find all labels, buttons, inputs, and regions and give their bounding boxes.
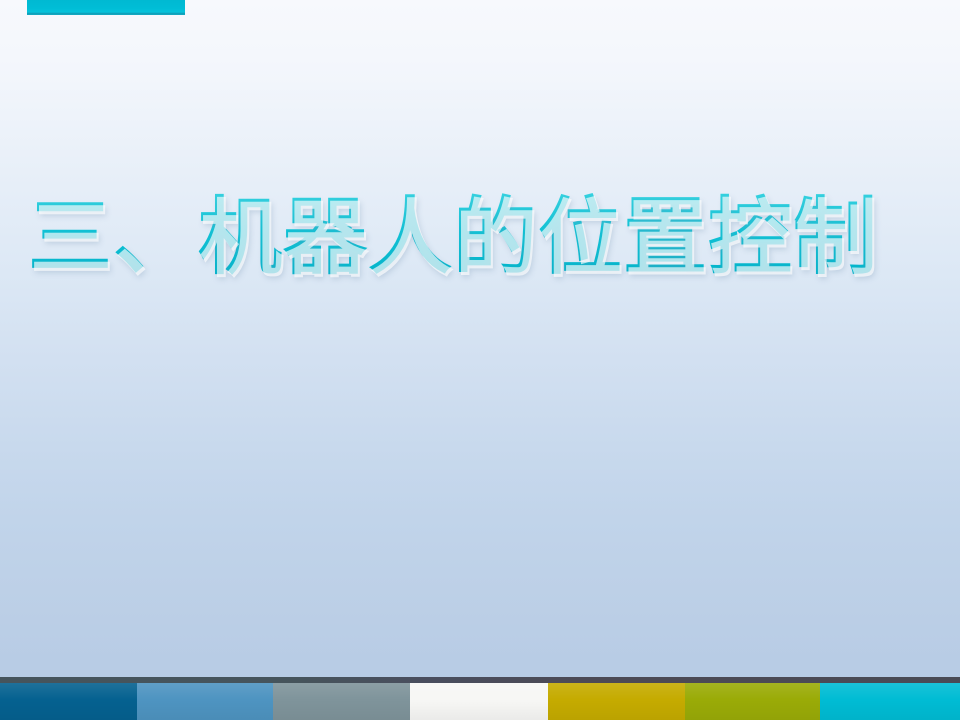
bottom-swatch-steel-blue [137,683,273,720]
slide-canvas: 三、机器人的位置控制 [0,0,960,720]
swatch-sheen [0,683,137,720]
bottom-swatch-slate-gray [273,683,410,720]
bottom-swatch-dark-blue [0,683,137,720]
top-accent-bar [27,0,185,15]
bottom-strip [0,677,960,720]
swatch-sheen [685,683,820,720]
swatch-sheen [548,683,685,720]
bottom-swatch-gold [548,683,685,720]
bottom-swatch-cyan [820,683,960,720]
title-block: 三、机器人的位置控制 [28,178,908,298]
page-title: 三、机器人的位置控制 [28,193,878,282]
bottom-swatch-olive [685,683,820,720]
swatch-sheen [137,683,273,720]
swatch-sheen [273,683,410,720]
bottom-color-swatches [0,683,960,720]
swatch-sheen [410,683,548,720]
bottom-swatch-white [410,683,548,720]
swatch-sheen [820,683,960,720]
